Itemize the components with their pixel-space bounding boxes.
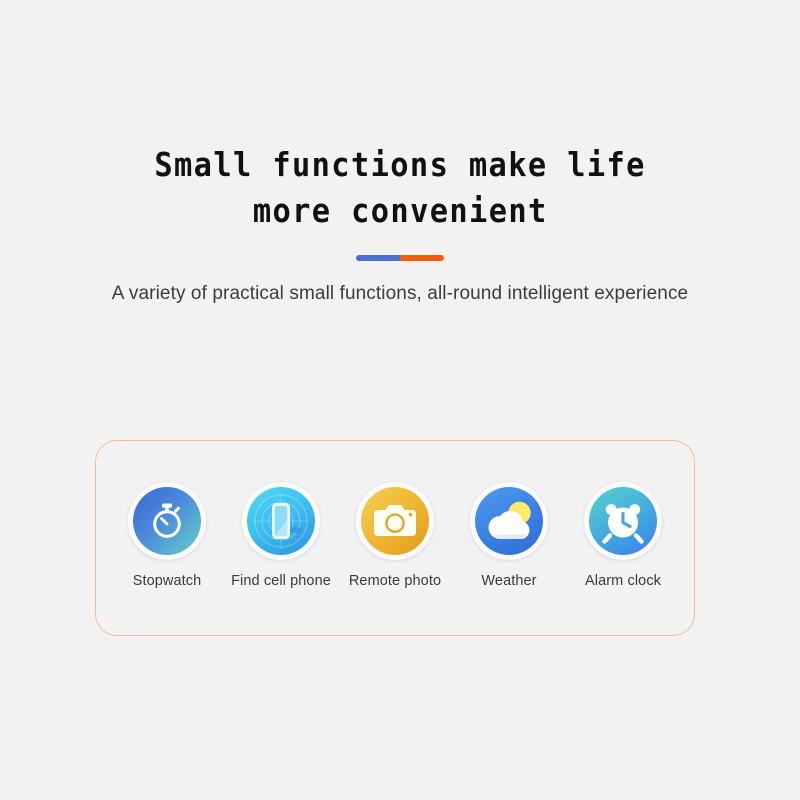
feature-list: Stopwatch (96, 441, 694, 635)
alarm-icon-wrapper (584, 482, 662, 560)
stopwatch-icon (133, 487, 201, 555)
title-divider (356, 255, 444, 261)
divider-right-segment (400, 255, 444, 261)
feature-label-alarm-clock: Alarm clock (585, 573, 661, 589)
feature-item-stopwatch[interactable]: Stopwatch (111, 482, 223, 595)
feature-card: Stopwatch (95, 440, 695, 636)
feature-label-remote-photo: Remote photo (349, 573, 441, 589)
feature-label-find-cell-phone: Find cell phone (231, 573, 331, 589)
camera-icon-wrapper (356, 482, 434, 560)
promo-page: Small functions make life more convenien… (0, 0, 800, 800)
page-title-line-1: Small functions make life (154, 142, 645, 187)
weather-icon-wrapper (470, 482, 548, 560)
feature-item-find-cell-phone[interactable]: Find cell phone (225, 482, 337, 595)
camera-icon (361, 487, 429, 555)
feature-label-stopwatch: Stopwatch (133, 573, 202, 589)
alarm-clock-icon (589, 487, 657, 555)
stopwatch-icon-wrapper (128, 482, 206, 560)
weather-cloud-sun-icon (475, 487, 543, 555)
feature-label-weather: Weather (481, 573, 536, 589)
feature-item-weather[interactable]: Weather (453, 482, 565, 595)
find-phone-icon (247, 487, 315, 555)
find-phone-icon-wrapper (242, 482, 320, 560)
feature-item-remote-photo[interactable]: Remote photo (339, 482, 451, 595)
divider-left-segment (356, 255, 400, 261)
feature-item-alarm-clock[interactable]: Alarm clock (567, 482, 679, 595)
page-subtitle: A variety of practical small functions, … (112, 283, 688, 305)
heading-block: Small functions make life more convenien… (0, 142, 800, 305)
page-title-line-2: more convenient (253, 188, 548, 233)
